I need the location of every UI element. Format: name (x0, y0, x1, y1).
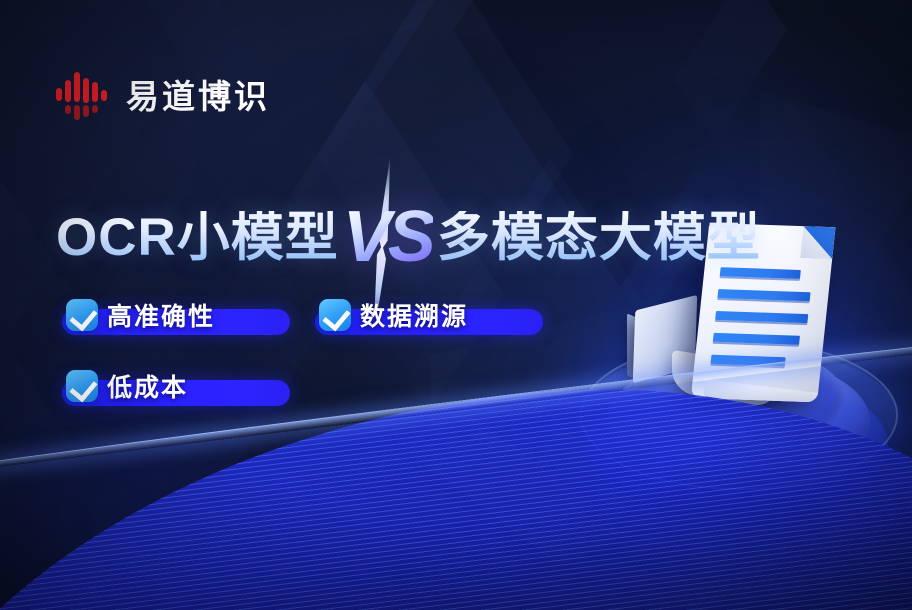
brand-name: 易道博识 (126, 70, 270, 118)
feature-item-2[interactable]: 数据溯源 (319, 297, 468, 333)
check-badge-icon (319, 299, 351, 331)
feature-item-3[interactable]: 低成本 (66, 368, 188, 404)
headline-right: 多模态大模型 (437, 211, 761, 264)
poster-canvas: REPORT (0, 0, 912, 610)
feature-label-2: 数据溯源 (360, 297, 468, 333)
feature-item-1[interactable]: 高准确性 (66, 297, 215, 333)
headline-left: OCR小模型 (56, 211, 339, 264)
sound-bars-logo-icon (56, 68, 110, 120)
headline: OCR小模型 VS 多模态大模型 (56, 198, 761, 276)
feature-label-1: 高准确性 (107, 297, 215, 333)
check-badge-icon (66, 370, 98, 402)
check-badge-icon (66, 299, 98, 331)
versus-label: VS (343, 205, 433, 270)
versus-group: VS (343, 205, 433, 270)
brand-logo: 易道博识 (56, 68, 270, 120)
feature-label-3: 低成本 (107, 368, 188, 404)
